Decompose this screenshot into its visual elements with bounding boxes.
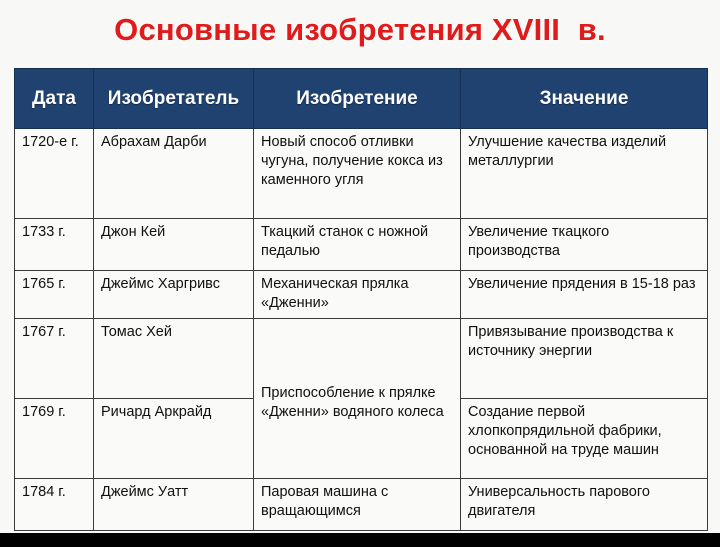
bottom-black-band	[0, 533, 720, 547]
column-header-meaning: Значение	[461, 69, 708, 129]
cell-date: 1769 г.	[15, 399, 94, 479]
cell-meaning: Создание первой хлопкопрядильной фабрики…	[461, 399, 708, 479]
table-header: Дата Изобретатель Изобретение Значение	[15, 69, 708, 129]
table-row: 1733 г. Джон Кей Ткацкий станок с ножной…	[15, 219, 708, 271]
table-body: 1720-е г. Абрахам Дарби Новый способ отл…	[15, 129, 708, 531]
column-header-invention: Изобретение	[254, 69, 461, 129]
cell-invention: Ткацкий станок с ножной педалью	[254, 219, 461, 271]
cell-invention: Механическая прялка «Дженни»	[254, 271, 461, 319]
cell-inventor: Джон Кей	[94, 219, 254, 271]
page-title: Основные изобретения XVIII в.	[0, 11, 720, 49]
cell-date: 1733 г.	[15, 219, 94, 271]
cell-inventor: Джеймс Уатт	[94, 479, 254, 531]
cell-date: 1720-е г.	[15, 129, 94, 219]
cell-invention: Паровая машина с вращающимся	[254, 479, 461, 531]
table-header-row: Дата Изобретатель Изобретение Значение	[15, 69, 708, 129]
cell-meaning: Увеличение прядения в 15-18 раз	[461, 271, 708, 319]
cell-meaning: Привязывание производства к источнику эн…	[461, 319, 708, 399]
cell-date: 1765 г.	[15, 271, 94, 319]
cell-meaning: Универсальность парового двигателя	[461, 479, 708, 531]
cell-inventor: Джеймс Харгривс	[94, 271, 254, 319]
table-row: 1767 г. Томас Хей Приспособление к прялк…	[15, 319, 708, 399]
cell-meaning: Увеличение ткацкого производства	[461, 219, 708, 271]
column-header-inventor: Изобретатель	[94, 69, 254, 129]
table-row: 1784 г. Джеймс Уатт Паровая машина с вра…	[15, 479, 708, 531]
cell-invention-merged: Приспособление к прялке «Дженни» водяног…	[254, 319, 461, 479]
cell-inventor: Абрахам Дарби	[94, 129, 254, 219]
cell-meaning: Улучшение качества изделий металлургии	[461, 129, 708, 219]
cell-date: 1784 г.	[15, 479, 94, 531]
cell-inventor: Ричард Аркрайд	[94, 399, 254, 479]
cell-invention: Новый способ отливки чугуна, получение к…	[254, 129, 461, 219]
cell-invention-merged-text: Приспособление к прялке «Дженни» водяног…	[261, 384, 453, 422]
table-row: 1765 г. Джеймс Харгривс Механическая пря…	[15, 271, 708, 319]
table-row: 1720-е г. Абрахам Дарби Новый способ отл…	[15, 129, 708, 219]
inventions-table: Дата Изобретатель Изобретение Значение 1…	[14, 68, 708, 531]
slide-canvas: Основные изобретения XVIII в. Дата Изобр…	[0, 0, 720, 547]
cell-date: 1767 г.	[15, 319, 94, 399]
cell-inventor: Томас Хей	[94, 319, 254, 399]
column-header-date: Дата	[15, 69, 94, 129]
